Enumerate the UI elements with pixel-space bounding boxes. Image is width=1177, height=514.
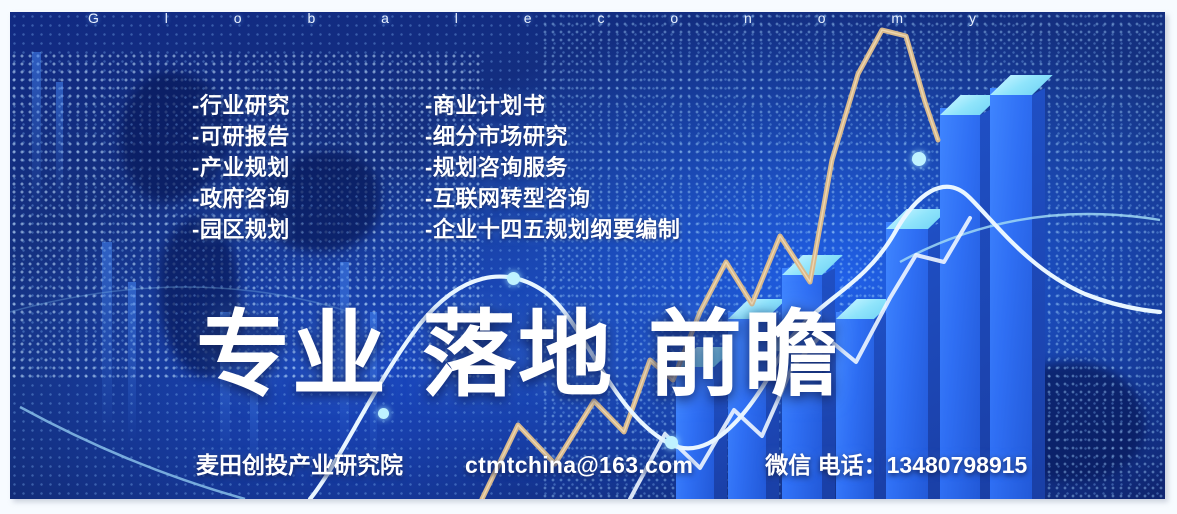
chart-bar-6 (940, 108, 980, 499)
services-column-right: -商业计划书 -细分市场研究 -规划咨询服务 -互联网转型咨询 -企业十四五规划… (425, 90, 680, 245)
service-item: -商业计划书 (425, 90, 680, 121)
headline: 专业落地前瞻 (196, 308, 840, 402)
services-column-left: -行业研究 -可研报告 -产业规划 -政府咨询 -园区规划 (192, 90, 290, 245)
banner-root: G l o b a l e c o n o m y -行业研究 -可研报告 -产… (10, 12, 1165, 499)
curve-node-5 (378, 408, 389, 419)
service-item: -产业规划 (192, 152, 290, 183)
service-item: -互联网转型咨询 (425, 183, 680, 214)
service-item: -可研报告 (192, 121, 290, 152)
service-item: -行业研究 (192, 90, 290, 121)
headline-word-1: 专业 (196, 302, 388, 407)
chart-bar-7 (990, 88, 1032, 499)
headline-word-3: 前瞻 (648, 302, 840, 407)
organization-name: 麦田创投产业研究院 (196, 446, 403, 480)
service-item: -细分市场研究 (425, 121, 680, 152)
service-item: -园区规划 (192, 214, 290, 245)
service-item: -政府咨询 (192, 183, 290, 214)
bar-front-face (940, 108, 980, 499)
headline-word-2: 落地 (422, 302, 614, 407)
bar-side-face (1032, 88, 1045, 499)
bar-front-face (990, 88, 1032, 499)
service-item: -规划咨询服务 (425, 152, 680, 183)
footer-contact-row: 麦田创投产业研究院 ctmtchina@163.com 微信 电话：134807… (196, 446, 1027, 480)
phone-contact[interactable]: 微信 电话：13480798915 (765, 446, 1027, 480)
kicker-global-economy: G l o b a l e c o n o m y (88, 12, 1098, 26)
curve-node-1 (507, 272, 520, 285)
service-item: -企业十四五规划纲要编制 (425, 214, 680, 245)
email-address[interactable]: ctmtchina@163.com (465, 452, 693, 479)
curve-node-4 (912, 152, 926, 166)
